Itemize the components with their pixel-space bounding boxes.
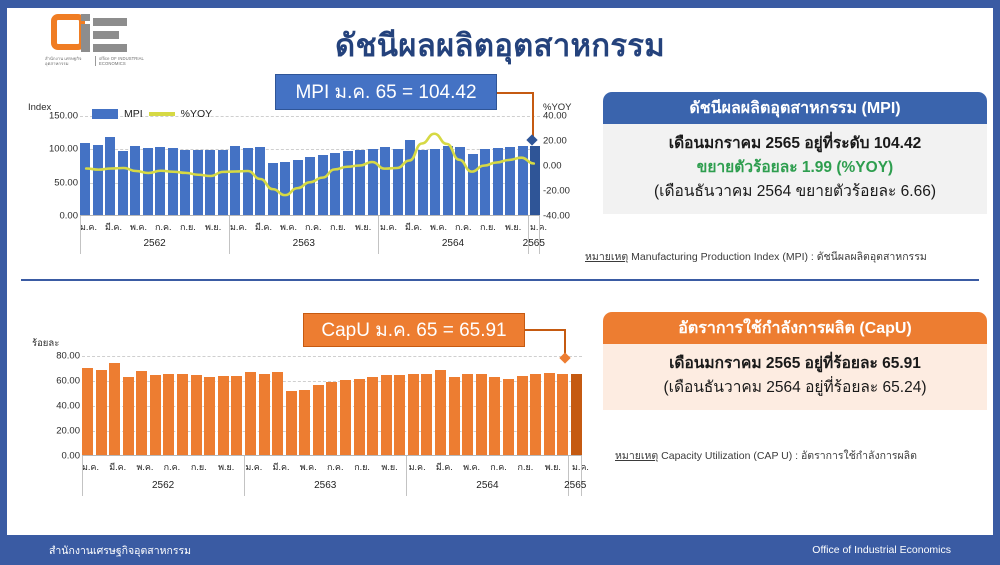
- mpi-callout-leader-v: [532, 92, 534, 140]
- bar: [191, 375, 202, 456]
- footer-left-text: สำนักงานเศรษฐกิจอุตสาหกรรม: [49, 542, 191, 559]
- bar: [286, 391, 297, 456]
- bar: [571, 374, 582, 456]
- y-axis-tick: 20.00: [56, 426, 80, 437]
- capu-info-line-2: (เดือนธันวาคม 2564 อยู่ที่ร้อยละ 65.24): [613, 376, 977, 400]
- bar: [163, 374, 174, 457]
- capu-chart: [82, 356, 582, 456]
- bar: [354, 379, 365, 456]
- capu-bar-group: [82, 356, 582, 456]
- mpi-legend: MPI %YOY: [92, 108, 212, 120]
- bar: [557, 374, 568, 456]
- bar: [259, 374, 270, 457]
- bar: [503, 379, 514, 456]
- bar: [408, 374, 419, 457]
- mpi-info-title: ดัชนีผลผลิตอุตสาหกรรม (MPI): [603, 92, 987, 124]
- capu-year-labels: 2562256325642565: [82, 480, 582, 494]
- capu-info-line-1: เดือนมกราคม 2565 อยู่ที่ร้อยละ 65.91: [613, 352, 977, 376]
- mpi-legend-bar-swatch: [92, 109, 118, 119]
- y-axis-tick: 50.00: [54, 177, 78, 188]
- bar: [150, 375, 161, 456]
- capu-panel: ร้อยละ 0.0020.0040.0060.0080.00 ม.ค.·มี.…: [14, 288, 1000, 514]
- bar: [367, 377, 378, 456]
- bar: [326, 382, 337, 456]
- bar: [544, 373, 555, 456]
- year-label: 2565: [564, 480, 586, 491]
- bar: [123, 377, 134, 456]
- bar: [177, 374, 188, 457]
- mpi-plot: [80, 116, 540, 216]
- bar: [340, 380, 351, 456]
- capu-footnote-text: Capacity Utilization (CAP U) : อัตราการใ…: [658, 450, 917, 462]
- y-axis-tick: 20.00: [543, 136, 567, 147]
- bar: [313, 385, 324, 456]
- y-axis-tick: 80.00: [56, 351, 80, 362]
- mpi-footnote-text: Manufacturing Production Index (MPI) : ด…: [628, 251, 927, 263]
- bar: [231, 376, 242, 456]
- bar: [530, 374, 541, 456]
- mpi-panel: Index %YOY 0.0050.00100.00150.00 -40.00-…: [14, 78, 1000, 270]
- mpi-info-box: ดัชนีผลผลิตอุตสาหกรรม (MPI) เดือนมกราคม …: [603, 92, 987, 214]
- bar: [82, 368, 93, 456]
- bar: [421, 374, 432, 456]
- yoy-line-path: [86, 134, 534, 195]
- mpi-info-line-3: (เดือนธันวาคม 2564 ขยายตัวร้อยละ 6.66): [613, 180, 977, 204]
- mpi-footnote: หมายเหตุ Manufacturing Production Index …: [585, 248, 927, 265]
- capu-callout: CapU ม.ค. 65 = 65.91: [303, 313, 525, 347]
- y-axis-tick: -40.00: [543, 211, 570, 222]
- bar: [96, 370, 107, 456]
- bar: [204, 377, 215, 456]
- mpi-y-axis-unit: Index: [28, 102, 51, 113]
- capu-footnote: หมายเหตุ Capacity Utilization (CAP U) : …: [615, 447, 917, 464]
- header: สำนักงาน เศรษฐกิจอุตสาหกรรม office OF IN…: [7, 4, 993, 74]
- mpi-legend-line-swatch: [149, 112, 175, 116]
- year-label: 2564: [442, 238, 464, 249]
- bar: [435, 370, 446, 456]
- bar: [218, 376, 229, 456]
- year-label: 2562: [152, 480, 174, 491]
- y-axis-tick: 100.00: [49, 144, 78, 155]
- bar: [136, 371, 147, 456]
- bar: [462, 374, 473, 457]
- mpi-y-axis-ticks: 0.0050.00100.00150.00: [28, 116, 78, 216]
- mpi-year-labels: 2562256325642565: [80, 238, 540, 252]
- year-label: 2562: [143, 238, 165, 249]
- mpi-info-line-1: เดือนมกราคม 2565 อยู่ที่ระดับ 104.42: [613, 132, 977, 156]
- footer-right-text: Office of Industrial Economics: [812, 544, 951, 556]
- y-axis-tick: 60.00: [56, 376, 80, 387]
- year-label: 2563: [314, 480, 336, 491]
- y-axis-tick: 40.00: [56, 401, 80, 412]
- capu-plot: [82, 356, 582, 456]
- page-title: ดัชนีผลผลิตอุตสาหกรรม: [7, 20, 993, 70]
- bar: [272, 372, 283, 456]
- footer: สำนักงานเศรษฐกิจอุตสาหกรรม Office of Ind…: [7, 535, 993, 565]
- capu-footnote-label: หมายเหตุ: [615, 450, 658, 462]
- mpi-y-axis-ticks-right: -40.00-20.000.0020.0040.00: [543, 116, 591, 216]
- panel-divider: [21, 279, 979, 281]
- mpi-legend-line-label: %YOY: [181, 108, 213, 120]
- capu-info-box: อัตราการใช้กำลังการผลิต (CapU) เดือนมกรา…: [603, 312, 987, 410]
- bar: [299, 390, 310, 456]
- mpi-yoy-line: [80, 116, 540, 216]
- capu-y-axis-unit: ร้อยละ: [32, 336, 59, 351]
- y-axis-tick: 150.00: [49, 111, 78, 122]
- y-axis-tick: -20.00: [543, 186, 570, 197]
- year-label: 2563: [293, 238, 315, 249]
- y-axis-tick: 0.00: [62, 451, 81, 462]
- year-label: 2564: [476, 480, 498, 491]
- y-axis-tick: 40.00: [543, 111, 567, 122]
- year-label: 2565: [523, 238, 545, 249]
- y-axis-tick: 0.00: [543, 161, 562, 172]
- capu-info-body: เดือนมกราคม 2565 อยู่ที่ร้อยละ 65.91 (เด…: [603, 344, 987, 410]
- mpi-callout: MPI ม.ค. 65 = 104.42: [275, 74, 497, 110]
- bar: [109, 363, 120, 456]
- bar: [449, 377, 460, 456]
- mpi-footnote-label: หมายเหตุ: [585, 251, 628, 263]
- capu-info-title: อัตราการใช้กำลังการผลิต (CapU): [603, 312, 987, 344]
- slide-frame: สำนักงาน เศรษฐกิจอุตสาหกรรม office OF IN…: [0, 0, 1000, 565]
- capu-y-axis-ticks: 0.0020.0040.0060.0080.00: [28, 356, 80, 456]
- mpi-legend-bar-label: MPI: [124, 108, 143, 120]
- bar: [489, 377, 500, 456]
- mpi-info-body: เดือนมกราคม 2565 อยู่ที่ระดับ 104.42 ขยา…: [603, 124, 987, 214]
- y-axis-tick: 0.00: [60, 211, 79, 222]
- bar: [517, 376, 528, 456]
- bar: [381, 375, 392, 456]
- capu-callout-leader-h: [525, 329, 565, 331]
- bar: [245, 372, 256, 456]
- bar: [394, 375, 405, 456]
- mpi-info-line-2: ขยายตัวร้อยละ 1.99 (%YOY): [613, 156, 977, 180]
- mpi-chart: [80, 116, 540, 216]
- bar: [476, 374, 487, 457]
- mpi-callout-leader-h: [497, 92, 533, 94]
